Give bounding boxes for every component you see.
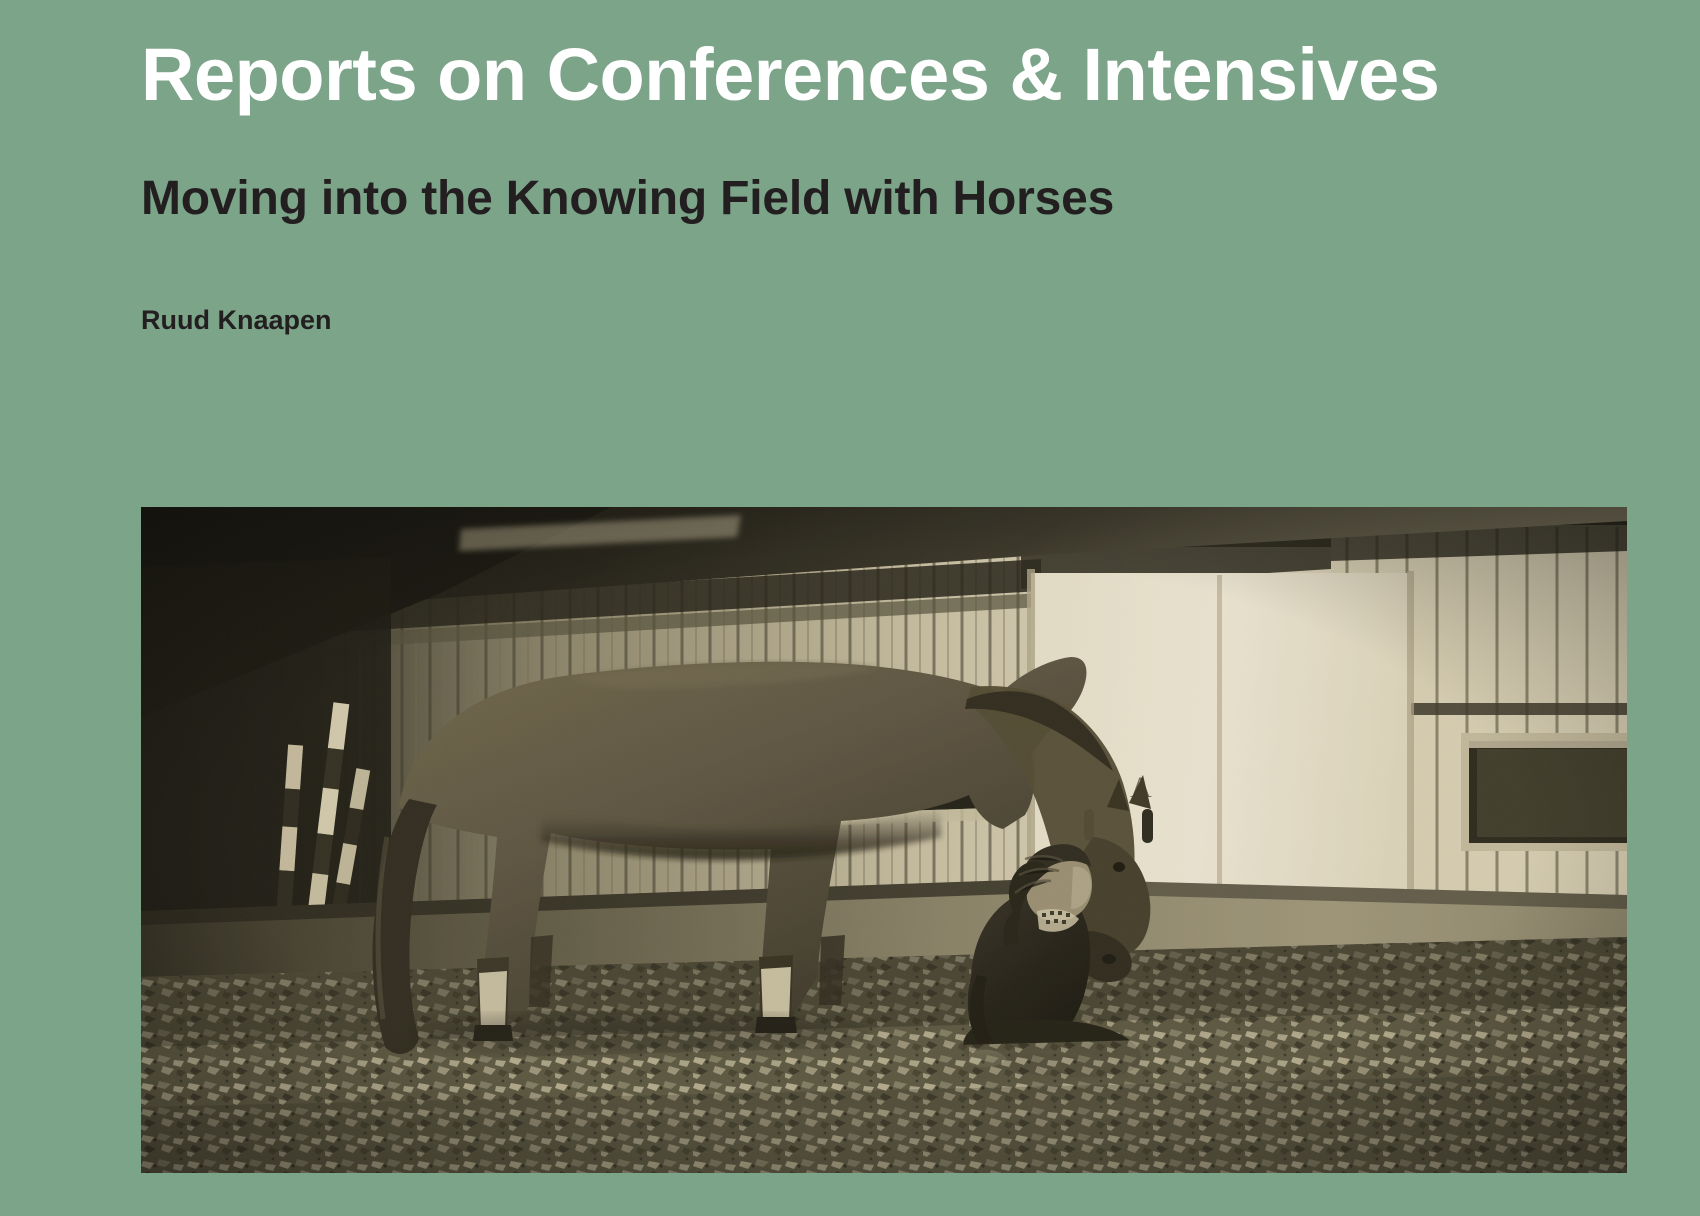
cover-page: Reports on Conferences & Intensives Movi… [0, 0, 1700, 1216]
page-title: Reports on Conferences & Intensives [141, 33, 1439, 117]
vignette [141, 507, 1627, 1173]
hero-photo: A eau Wind [141, 507, 1627, 1173]
horse-and-woman-illustration: A eau Wind [141, 507, 1627, 1173]
author-byline: Ruud Knaapen [141, 303, 332, 337]
article-subtitle: Moving into the Knowing Field with Horse… [141, 170, 1114, 228]
